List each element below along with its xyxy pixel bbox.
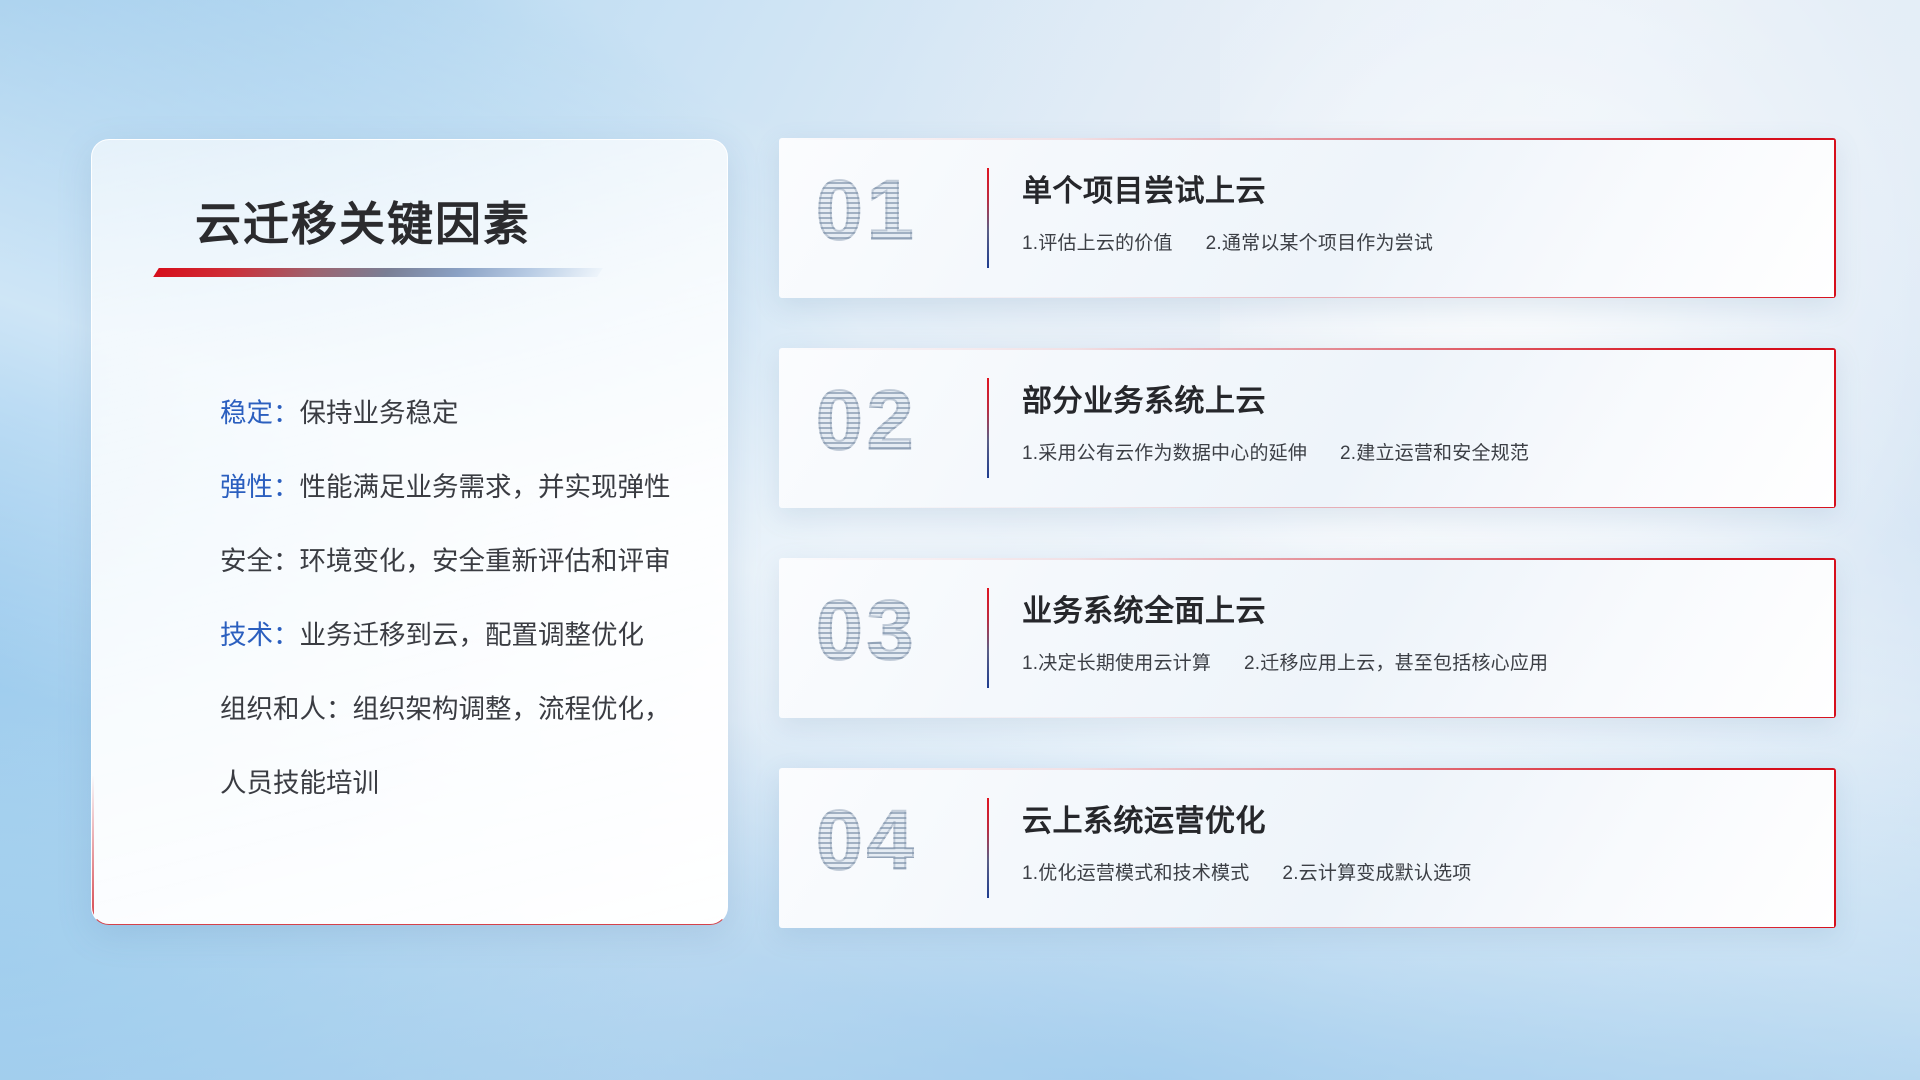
step-desc-item-2: 2.迁移应用上云，甚至包括核心应用 <box>1244 653 1548 674</box>
step-description: 1.评估上云的价值 2.通常以某个项目作为尝试 <box>1022 228 1812 255</box>
step-card-04[interactable]: 04 04 云上系统运营优化 1.优化运营模式和技术模式 2.云计算变成默认选项 <box>779 768 1836 928</box>
step-title: 单个项目尝试上云 <box>1022 166 1812 210</box>
factor-item: 安全：环境变化，安全重新评估和评审 <box>220 524 699 598</box>
factor-label: 技术： <box>220 620 300 650</box>
slide-stage: 云迁移关键因素 稳定：保持业务稳定 弹性：性能满足业务需求，并实现弹性 安全：环… <box>0 0 1920 1080</box>
step-title: 云上系统运营优化 <box>1022 796 1812 840</box>
factor-label: 安全： <box>220 546 300 576</box>
step-number-02: 02 <box>816 372 917 469</box>
step-description: 1.优化运营模式和技术模式 2.云计算变成默认选项 <box>1022 858 1812 885</box>
step-desc-item-2: 2.云计算变成默认选项 <box>1282 863 1471 884</box>
factor-item: 稳定：保持业务稳定 <box>220 376 699 450</box>
step-desc-item-1: 1.采用公有云作为数据中心的延伸 <box>1022 443 1307 464</box>
page-title: 云迁移关键因素 <box>195 188 531 254</box>
step-description: 1.决定长期使用云计算 2.迁移应用上云，甚至包括核心应用 <box>1022 648 1812 675</box>
factor-text: 保持业务稳定 <box>300 398 459 428</box>
step-text-block: 部分业务系统上云 1.采用公有云作为数据中心的延伸 2.建立运营和安全规范 <box>1022 376 1812 465</box>
key-factors-panel: 云迁移关键因素 稳定：保持业务稳定 弹性：性能满足业务需求，并实现弹性 安全：环… <box>91 139 728 925</box>
factor-list: 稳定：保持业务稳定 弹性：性能满足业务需求，并实现弹性 安全：环境变化，安全重新… <box>220 376 699 820</box>
card-bottom-accent <box>779 297 1836 298</box>
step-divider-accent <box>987 798 989 898</box>
step-number-01: 01 <box>816 162 917 259</box>
factor-text: 性能满足业务需求，并实现弹性 <box>300 472 671 502</box>
card-bottom-accent <box>779 927 1836 928</box>
factor-item: 组织和人：组织架构调整，流程优化， <box>220 672 699 746</box>
factor-text: 业务迁移到云，配置调整优化 <box>300 620 645 650</box>
factor-item: 技术：业务迁移到云，配置调整优化 <box>220 598 699 672</box>
step-desc-item-1: 1.决定长期使用云计算 <box>1022 653 1211 674</box>
step-desc-item-2: 2.通常以某个项目作为尝试 <box>1206 233 1433 254</box>
step-card-03[interactable]: 03 03 业务系统全面上云 1.决定长期使用云计算 2.迁移应用上云，甚至包括… <box>779 558 1836 718</box>
step-description: 1.采用公有云作为数据中心的延伸 2.建立运营和安全规范 <box>1022 438 1812 465</box>
factor-item-continuation: 人员技能培训 <box>220 746 699 820</box>
step-number-04: 04 <box>816 792 917 889</box>
factor-text: 组织架构调整，流程优化， <box>353 694 671 724</box>
step-title: 业务系统全面上云 <box>1022 586 1812 630</box>
step-text-block: 云上系统运营优化 1.优化运营模式和技术模式 2.云计算变成默认选项 <box>1022 796 1812 885</box>
step-desc-item-2: 2.建立运营和安全规范 <box>1340 443 1529 464</box>
step-number-03: 03 <box>816 582 917 679</box>
title-underline-accent <box>153 268 603 277</box>
step-divider-accent <box>987 168 989 268</box>
step-desc-item-1: 1.优化运营模式和技术模式 <box>1022 863 1249 884</box>
step-card-02[interactable]: 02 02 部分业务系统上云 1.采用公有云作为数据中心的延伸 2.建立运营和安… <box>779 348 1836 508</box>
step-card-01[interactable]: 01 01 单个项目尝试上云 1.评估上云的价值 2.通常以某个项目作为尝试 <box>779 138 1836 298</box>
card-bottom-accent <box>779 507 1836 508</box>
migration-steps-list: 01 01 单个项目尝试上云 1.评估上云的价值 2.通常以某个项目作为尝试 0… <box>779 138 1836 978</box>
factor-item: 弹性：性能满足业务需求，并实现弹性 <box>220 450 699 524</box>
step-title: 部分业务系统上云 <box>1022 376 1812 420</box>
step-desc-item-1: 1.评估上云的价值 <box>1022 233 1173 254</box>
step-divider-accent <box>987 588 989 688</box>
factor-label: 弹性： <box>220 472 300 502</box>
step-text-block: 业务系统全面上云 1.决定长期使用云计算 2.迁移应用上云，甚至包括核心应用 <box>1022 586 1812 675</box>
factor-label: 稳定： <box>220 398 300 428</box>
factor-label: 组织和人： <box>220 694 353 724</box>
step-text-block: 单个项目尝试上云 1.评估上云的价值 2.通常以某个项目作为尝试 <box>1022 166 1812 255</box>
factor-text: 环境变化，安全重新评估和评审 <box>300 546 671 576</box>
factor-text: 人员技能培训 <box>220 768 379 798</box>
step-divider-accent <box>987 378 989 478</box>
card-bottom-accent <box>779 717 1836 718</box>
